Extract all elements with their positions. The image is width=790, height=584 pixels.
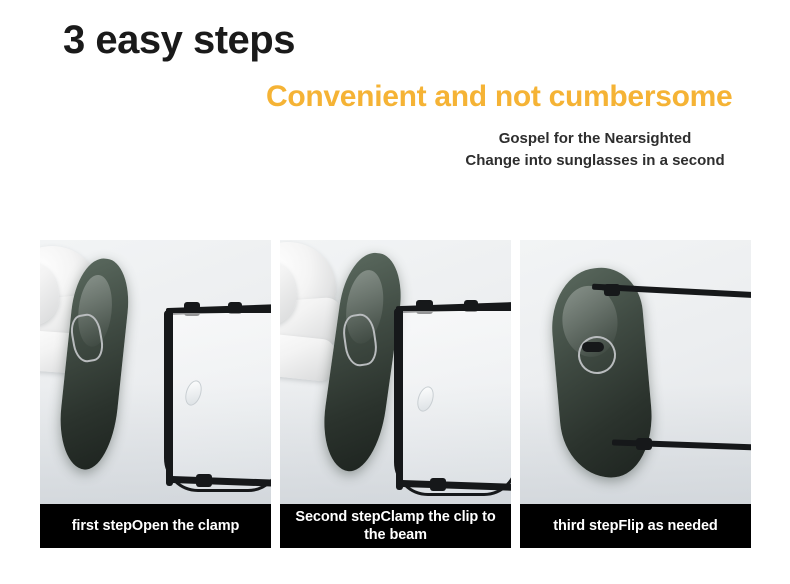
headline-accent: Convenient and not cumbersome (266, 80, 732, 113)
step-photo-3 (520, 240, 751, 504)
step-panel-2[interactable]: Second stepClamp the clip to the beam (280, 240, 511, 548)
clip-hinge (582, 342, 604, 352)
step-caption-1: first stepOpen the clamp (40, 504, 271, 548)
step-caption-3: third stepFlip as needed (520, 504, 751, 548)
frame-hinge-bottom (430, 478, 446, 491)
frame-bridge-post (166, 310, 173, 486)
steps-gallery: first stepOpen the clamp Second st (40, 240, 752, 548)
step-photo-2 (280, 240, 511, 504)
frame-lens-rim (394, 308, 511, 496)
tagline-line-1: Gospel for the Nearsighted (430, 128, 760, 150)
frame-hinge-bottom (636, 438, 652, 450)
frame-hinge-top (604, 284, 620, 296)
frame-lens-rim (164, 310, 271, 492)
step-caption-2: Second stepClamp the clip to the beam (280, 504, 511, 548)
tagline: Gospel for the Nearsighted Change into s… (430, 128, 760, 172)
page-title: 3 easy steps (63, 18, 295, 62)
step-panel-1[interactable]: first stepOpen the clamp (40, 240, 271, 548)
frame-bridge-post (396, 308, 403, 490)
step-caption-text-3: third stepFlip as needed (553, 517, 717, 535)
tagline-line-2: Change into sunglasses in a second (430, 150, 760, 172)
frame-hinge-bottom (196, 474, 212, 487)
step-caption-text-1: first stepOpen the clamp (72, 517, 240, 535)
step-caption-text-2: Second stepClamp the clip to the beam (286, 508, 505, 544)
step-panel-3[interactable]: third stepFlip as needed (520, 240, 751, 548)
step-photo-1 (40, 240, 271, 504)
